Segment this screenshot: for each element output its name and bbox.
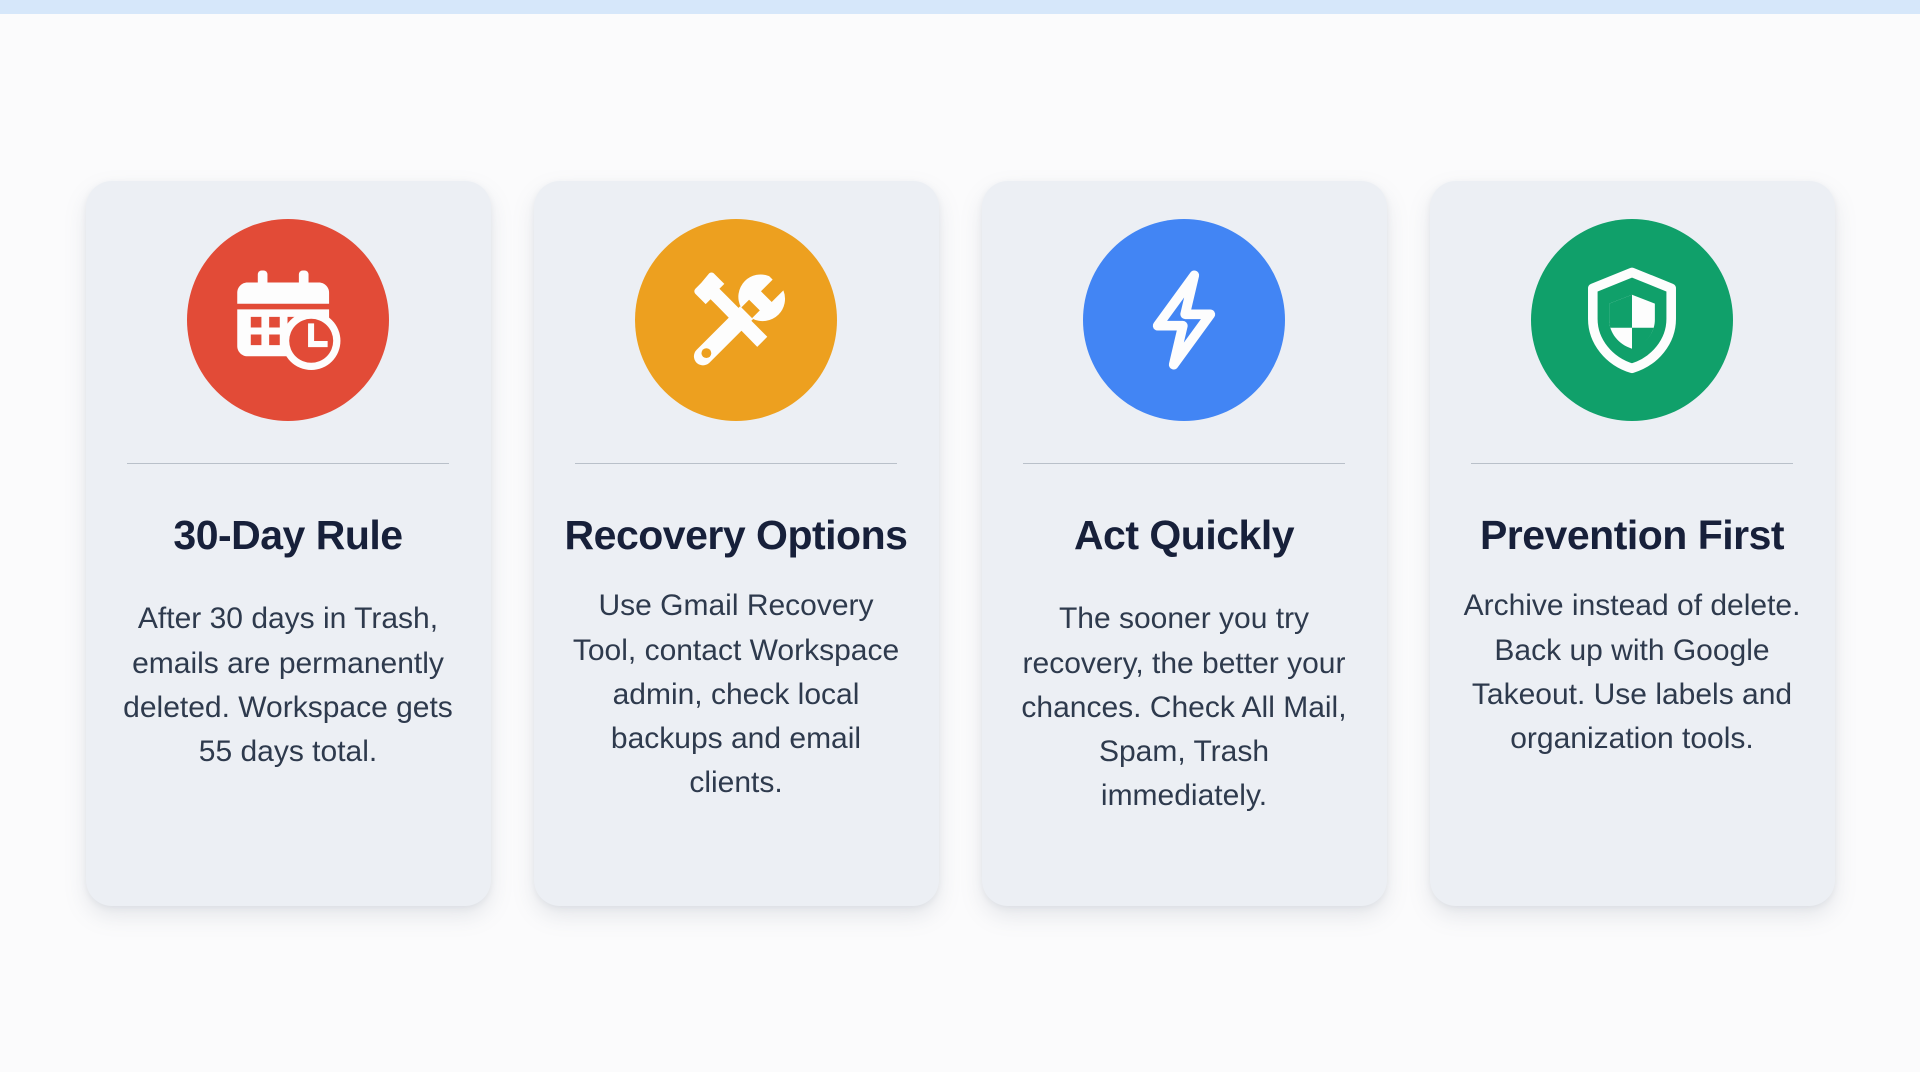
card-title: 30-Day Rule <box>173 512 402 560</box>
calendar-clock-icon <box>187 219 389 421</box>
info-cards-row: 30-Day Rule After 30 days in Trash, emai… <box>0 14 1920 1072</box>
card-title: Recovery Options <box>565 512 908 560</box>
card-divider <box>127 463 449 464</box>
shield-check-icon <box>1531 219 1733 421</box>
info-card-act-quickly[interactable]: Act Quickly The sooner you try recovery,… <box>982 181 1387 906</box>
card-title: Act Quickly <box>1074 512 1294 560</box>
card-body: Use Gmail Recovery Tool, contact Workspa… <box>566 584 906 804</box>
lightning-bolt-icon <box>1083 219 1285 421</box>
info-card-prevention-first[interactable]: Prevention First Archive instead of dele… <box>1430 181 1835 906</box>
info-card-30-day-rule[interactable]: 30-Day Rule After 30 days in Trash, emai… <box>86 181 491 906</box>
card-divider <box>1471 463 1793 464</box>
card-body: The sooner you try recovery, the better … <box>1014 597 1354 817</box>
tools-icon <box>635 219 837 421</box>
card-body: After 30 days in Trash, emails are perma… <box>118 597 458 773</box>
card-divider <box>1023 463 1345 464</box>
card-divider <box>575 463 897 464</box>
top-accent-band <box>0 0 1920 14</box>
card-body: Archive instead of delete. Back up with … <box>1462 584 1802 760</box>
info-card-recovery-options[interactable]: Recovery Options Use Gmail Recovery Tool… <box>534 181 939 906</box>
card-title: Prevention First <box>1480 512 1784 560</box>
